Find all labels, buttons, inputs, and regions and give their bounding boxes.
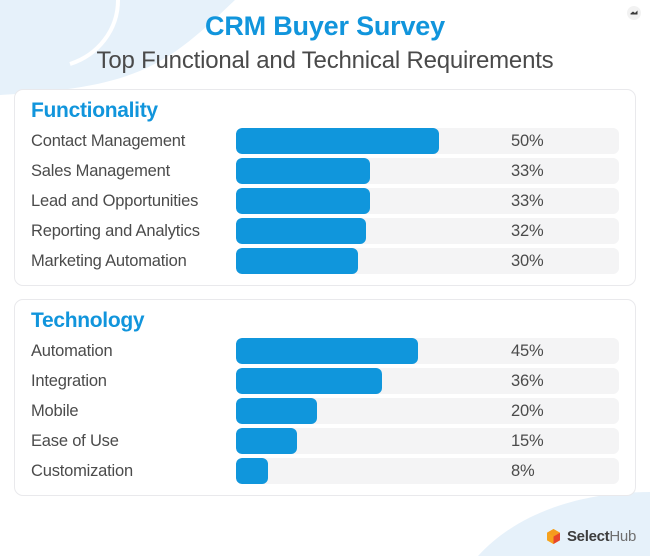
bar-row: Mobile 20% bbox=[31, 398, 619, 424]
brand-footer: SelectHub bbox=[545, 528, 636, 545]
bar-category-label: Mobile bbox=[31, 402, 236, 421]
bar-fill bbox=[236, 428, 297, 454]
bar-category-label: Ease of Use bbox=[31, 432, 236, 451]
bar-track: 45% bbox=[236, 338, 619, 364]
bar-track: 33% bbox=[236, 158, 619, 184]
bar-fill bbox=[236, 458, 268, 484]
bar-value-label: 50% bbox=[511, 128, 543, 154]
brand-wordmark: SelectHub bbox=[567, 528, 636, 545]
bar-category-label: Reporting and Analytics bbox=[31, 222, 236, 241]
page-title: CRM Buyer Survey bbox=[0, 10, 650, 42]
brand-name-hub: Hub bbox=[609, 528, 636, 545]
bar-row: Sales Management 33% bbox=[31, 158, 619, 184]
bar-track: 20% bbox=[236, 398, 619, 424]
bar-fill bbox=[236, 158, 370, 184]
bar-row: Contact Management 50% bbox=[31, 128, 619, 154]
bar-fill bbox=[236, 338, 418, 364]
bar-track: 36% bbox=[236, 368, 619, 394]
bar-value-label: 36% bbox=[511, 368, 543, 394]
brand-name-select: Select bbox=[567, 528, 609, 545]
bar-row: Ease of Use 15% bbox=[31, 428, 619, 454]
bar-fill bbox=[236, 368, 382, 394]
bar-track: 8% bbox=[236, 458, 619, 484]
bar-fill bbox=[236, 248, 358, 274]
card-technology: Technology Automation 45% Integration 36… bbox=[14, 299, 636, 496]
bar-row: Integration 36% bbox=[31, 368, 619, 394]
bar-row: Reporting and Analytics 32% bbox=[31, 218, 619, 244]
bar-category-label: Lead and Opportunities bbox=[31, 192, 236, 211]
bar-value-label: 33% bbox=[511, 158, 543, 184]
bar-category-label: Sales Management bbox=[31, 162, 236, 181]
bar-rows-functionality: Contact Management 50% Sales Management … bbox=[31, 128, 619, 274]
selecthub-hexagon-icon bbox=[545, 528, 562, 545]
bar-value-label: 32% bbox=[511, 218, 543, 244]
bar-track: 30% bbox=[236, 248, 619, 274]
bar-value-label: 15% bbox=[511, 428, 543, 454]
header: CRM Buyer Survey Top Functional and Tech… bbox=[0, 0, 650, 76]
bar-track: 15% bbox=[236, 428, 619, 454]
bar-value-label: 45% bbox=[511, 338, 543, 364]
bar-track: 32% bbox=[236, 218, 619, 244]
bar-fill bbox=[236, 188, 370, 214]
bar-row: Customization 8% bbox=[31, 458, 619, 484]
bar-track: 50% bbox=[236, 128, 619, 154]
bar-fill bbox=[236, 398, 317, 424]
page-subtitle: Top Functional and Technical Requirement… bbox=[0, 46, 650, 76]
bar-category-label: Contact Management bbox=[31, 132, 236, 151]
bar-value-label: 33% bbox=[511, 188, 543, 214]
bar-row: Automation 45% bbox=[31, 338, 619, 364]
corner-artifact-icon bbox=[627, 6, 641, 20]
bar-value-label: 30% bbox=[511, 248, 543, 274]
bar-category-label: Customization bbox=[31, 462, 236, 481]
bar-value-label: 20% bbox=[511, 398, 543, 424]
group-title-functionality: Functionality bbox=[31, 99, 619, 123]
bar-category-label: Marketing Automation bbox=[31, 252, 236, 271]
decor-shape-bottom-right bbox=[478, 492, 650, 556]
bar-row: Lead and Opportunities 33% bbox=[31, 188, 619, 214]
card-functionality: Functionality Contact Management 50% Sal… bbox=[14, 89, 636, 286]
bar-category-label: Integration bbox=[31, 372, 236, 391]
bar-category-label: Automation bbox=[31, 342, 236, 361]
group-title-technology: Technology bbox=[31, 309, 619, 333]
bar-fill bbox=[236, 218, 366, 244]
bar-value-label: 8% bbox=[511, 458, 534, 484]
bar-rows-technology: Automation 45% Integration 36% Mobile 20… bbox=[31, 338, 619, 484]
chart-groups: Functionality Contact Management 50% Sal… bbox=[14, 89, 636, 496]
bar-track: 33% bbox=[236, 188, 619, 214]
bar-fill bbox=[236, 128, 439, 154]
bar-row: Marketing Automation 30% bbox=[31, 248, 619, 274]
